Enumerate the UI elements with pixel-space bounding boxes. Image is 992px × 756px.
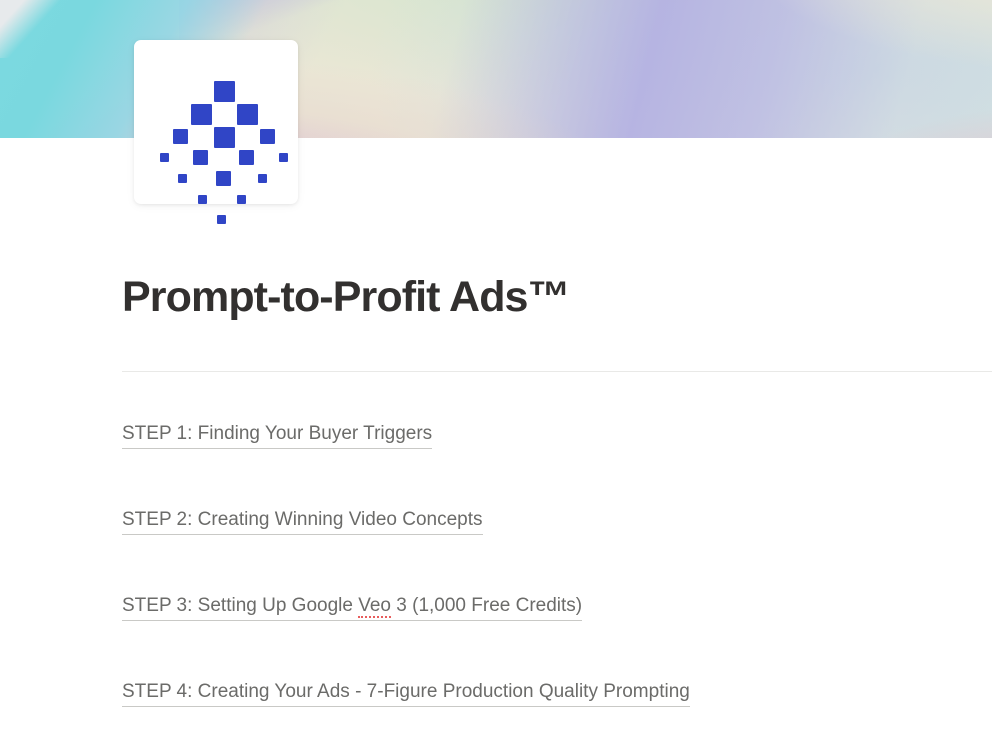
logo-pixel-12 — [258, 174, 267, 183]
logo-pixel-2 — [237, 104, 258, 125]
logo-pixel-5 — [260, 129, 275, 144]
step-2-link[interactable]: STEP 2: Creating Winning Video Concepts — [122, 507, 483, 535]
page-title[interactable]: Prompt-to-Profit Ads™ — [122, 271, 570, 323]
logo-pixel-9 — [279, 153, 288, 162]
logo-pixel-4 — [173, 129, 188, 144]
logo-pixel-7 — [239, 150, 254, 165]
logo-pixel-0 — [214, 81, 235, 102]
step-link-row: STEP 2: Creating Winning Video Concepts — [122, 507, 962, 593]
step-link-row: STEP 1: Finding Your Buyer Triggers — [122, 421, 962, 507]
pixel-diamond-logo-icon — [134, 40, 298, 204]
step-link-row: STEP 4: Creating Your Ads - 7-Figure Pro… — [122, 679, 962, 756]
step-3-link[interactable]: STEP 3: Setting Up Google Veo 3 (1,000 F… — [122, 593, 582, 621]
step-link-row: STEP 3: Setting Up Google Veo 3 (1,000 F… — [122, 593, 962, 679]
logo-pixel-13 — [198, 195, 207, 204]
logo-pixel-8 — [160, 153, 169, 162]
step-1-link[interactable]: STEP 1: Finding Your Buyer Triggers — [122, 421, 432, 449]
title-divider — [122, 371, 992, 372]
logo-pixel-1 — [191, 104, 212, 125]
document-body: Prompt-to-Profit Ads™ STEP 1: Finding Yo… — [0, 138, 992, 756]
step-4-link[interactable]: STEP 4: Creating Your Ads - 7-Figure Pro… — [122, 679, 690, 707]
spellcheck-misspelled-word[interactable]: Veo — [358, 595, 391, 618]
logo-pixel-14 — [237, 195, 246, 204]
step-links-list: STEP 1: Finding Your Buyer TriggersSTEP … — [122, 421, 962, 756]
page-icon-card[interactable] — [134, 40, 298, 204]
logo-pixel-11 — [178, 174, 187, 183]
logo-pixel-6 — [193, 150, 208, 165]
page-root: Prompt-to-Profit Ads™ STEP 1: Finding Yo… — [0, 0, 992, 756]
logo-pixel-15 — [217, 215, 226, 224]
logo-pixel-3 — [214, 127, 235, 148]
logo-pixel-10 — [216, 171, 231, 186]
